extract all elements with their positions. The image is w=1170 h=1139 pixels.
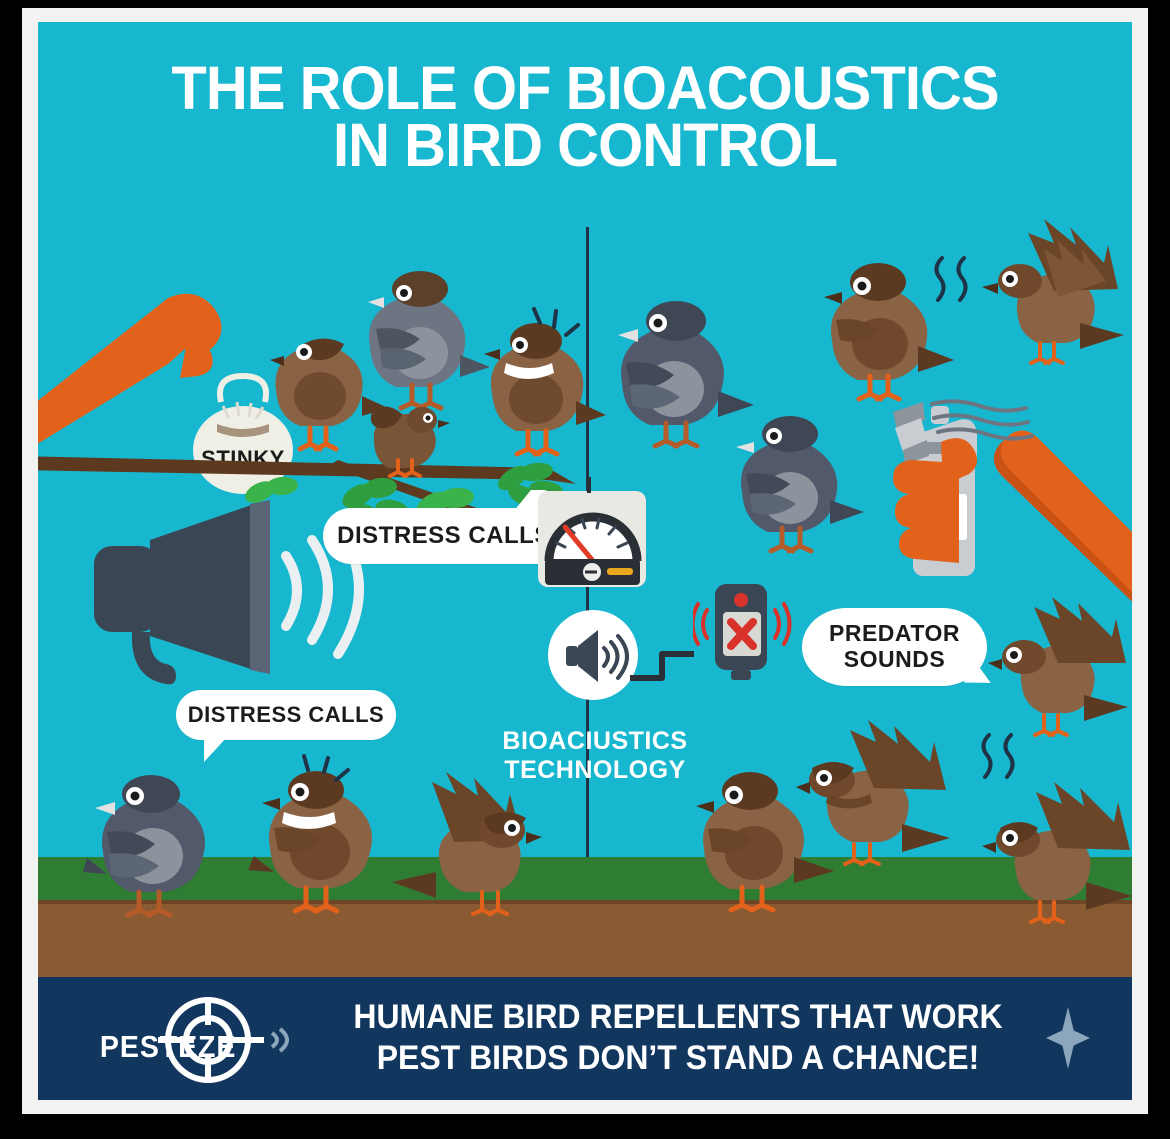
poster-frame: THE ROLE OF BIOACOUSTICS IN BIRD CONTROL… <box>0 0 1170 1139</box>
gauge-meter-icon <box>535 477 650 602</box>
bird-flying-right-middle <box>988 607 1132 747</box>
banner-tagline: HUMANE BIRD REPELLENTS THAT WORK PEST BI… <box>349 997 1007 1080</box>
speech-bubble-distress-calls-lower: DISTRESS CALLS <box>176 690 396 740</box>
bird-collared-ground-left <box>248 760 398 918</box>
sound-squiggle-top-right <box>926 250 986 310</box>
tagline-line-1: HUMANE BIRD REPELLENTS THAT WORK <box>353 998 1002 1036</box>
bubble-label: DISTRESS CALLS <box>337 522 551 550</box>
bubble-tail <box>204 736 228 762</box>
bioacoustics-line-1: BIOACIUSTICS <box>502 727 687 755</box>
bird-repeller-device-icon <box>693 582 793 697</box>
predator-line-1: PREDATOR <box>829 620 960 646</box>
bird-pigeon-ground-left <box>83 770 233 920</box>
speaker-icon <box>548 610 638 700</box>
predator-line-2: SOUNDS <box>844 646 945 672</box>
bird-pigeon-centre-lower <box>728 412 868 562</box>
bird-brown-ground-right <box>688 767 838 917</box>
pesteze-logo[interactable]: PESTEZE <box>86 997 316 1083</box>
pesteze-logo-text: PESTEZE <box>100 1029 236 1065</box>
bird-flying-ground-left <box>388 780 563 925</box>
infographic-poster: THE ROLE OF BIOACOUSTICS IN BIRD CONTROL… <box>38 22 1132 1100</box>
bubble-label: DISTRESS CALLS <box>188 702 384 728</box>
tagline-line-2: PEST BIRDS DON’T STAND A CHANCE! <box>377 1039 980 1077</box>
bird-collared-branch <box>478 317 608 462</box>
four-point-star-icon <box>1046 1007 1090 1069</box>
sound-squiggle-mid-right <box>973 727 1033 787</box>
bottom-banner: PESTEZE HUMANE BIRD REPELLENTS THAT WORK… <box>38 977 1132 1100</box>
speech-bubble-distress-calls-upper: DISTRESS CALLS <box>323 508 565 564</box>
spray-mist-lines <box>928 394 1048 444</box>
bioacoustics-technology-label: BIOACIUSTICS TECHNOLOGY <box>500 727 690 785</box>
title-line-2: IN BIRD CONTROL <box>65 117 1104 174</box>
page-title: THE ROLE OF BIOACOUSTICS IN BIRD CONTROL <box>65 60 1104 173</box>
bird-flying-right-bottom <box>988 792 1132 932</box>
bird-small-branch <box>364 390 464 480</box>
bubble-label: PREDATOR SOUNDS <box>829 621 960 673</box>
